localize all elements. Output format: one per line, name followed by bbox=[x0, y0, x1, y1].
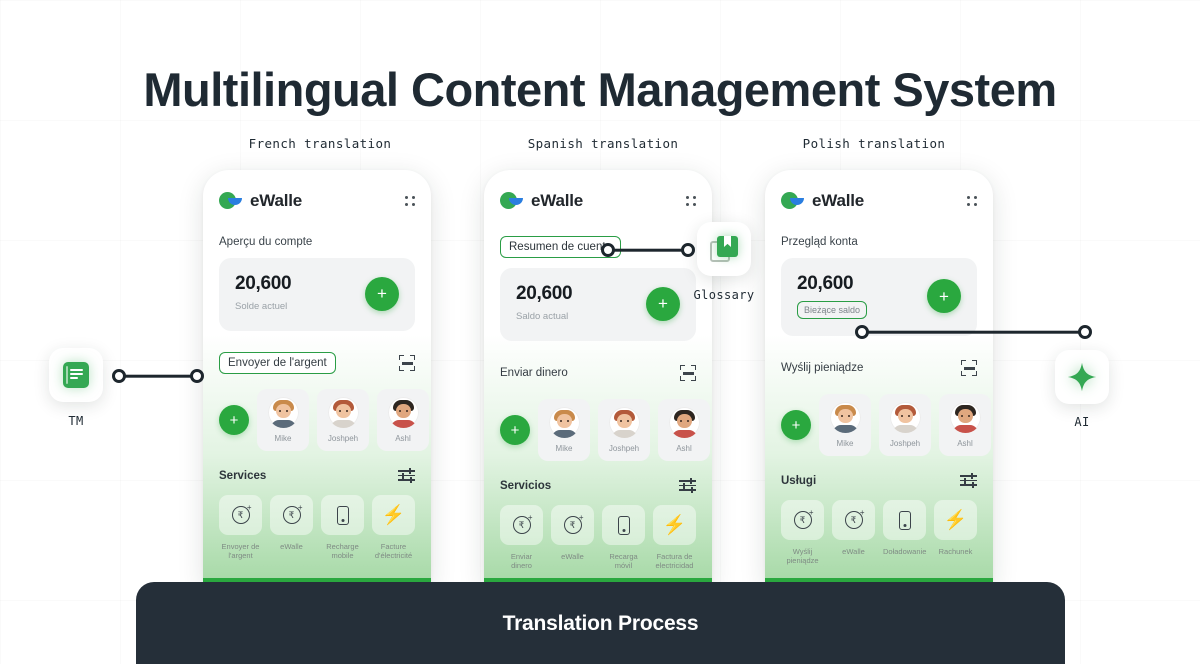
connector-tm-to-french bbox=[112, 368, 204, 384]
connector-spanish-to-glossary bbox=[601, 242, 695, 258]
filter-sliders-icon[interactable] bbox=[398, 469, 415, 482]
avatar bbox=[950, 402, 981, 433]
contact-item[interactable]: Joshpeh bbox=[317, 389, 369, 451]
contact-name: Joshpeh bbox=[883, 439, 927, 448]
services-grid-polish: ₹ Wyślij pieniądze ₹ eWalle Doładowanie … bbox=[781, 500, 977, 566]
grid-menu-icon[interactable] bbox=[686, 196, 696, 206]
contact-name: Mike bbox=[542, 444, 586, 453]
coin-plus-icon: ₹ bbox=[781, 500, 824, 540]
avatar bbox=[388, 397, 419, 428]
ewalle-logo-icon bbox=[219, 192, 242, 211]
add-contact-button-french[interactable]: + bbox=[219, 405, 249, 435]
send-money-label-french: Envoyer de l'argent bbox=[219, 352, 336, 374]
service-label: Recarga móvil bbox=[602, 552, 645, 571]
connector-endpoint bbox=[601, 243, 615, 257]
contact-item[interactable]: Ashl bbox=[377, 389, 429, 451]
services-header-polish: Usługi bbox=[781, 474, 977, 487]
send-money-label-polish: Wyślij pieniądze bbox=[781, 362, 863, 374]
badge-glossary[interactable] bbox=[697, 222, 751, 276]
avatar bbox=[830, 402, 861, 433]
contacts-row-french: + Mike Joshpeh Ashl bbox=[219, 389, 415, 451]
contact-name: Mike bbox=[261, 434, 305, 443]
document-icon bbox=[63, 362, 89, 388]
contact-name: Ashl bbox=[381, 434, 425, 443]
phone-card-french: eWalle Aperçu du compte 20,600 Solde act… bbox=[203, 170, 431, 585]
account-overview-label-polish: Przegląd konta bbox=[781, 236, 858, 248]
balance-sublabel-spanish: Saldo actual bbox=[516, 311, 568, 322]
book-icon bbox=[710, 236, 738, 262]
avatar bbox=[549, 407, 580, 438]
service-item[interactable]: ₹ Wyślij pieniądze bbox=[781, 500, 824, 566]
service-item[interactable]: ₹ eWalle bbox=[551, 505, 594, 571]
balance-amount-spanish: 20,600 bbox=[516, 283, 572, 305]
service-item[interactable]: Recharge mobile bbox=[321, 495, 364, 561]
balance-sublabel-polish: Bieżące saldo bbox=[797, 301, 867, 319]
page-root: Multilingual Content Management System F… bbox=[0, 0, 1200, 664]
connector-endpoint bbox=[190, 369, 204, 383]
service-label: Factura de electricidad bbox=[653, 552, 696, 571]
contact-item[interactable]: Mike bbox=[257, 389, 309, 451]
service-label: Wyślij pieniądze bbox=[781, 547, 824, 566]
services-title-spanish: Servicios bbox=[500, 480, 551, 492]
bottom-banner: Translation Process bbox=[136, 582, 1065, 664]
coin-plus-icon: ₹ bbox=[500, 505, 543, 545]
mobile-icon bbox=[321, 495, 364, 535]
service-item[interactable]: ₹ Envoyer de l'argent bbox=[219, 495, 262, 561]
contacts-row-spanish: + Mike Joshpeh Ashl bbox=[500, 399, 696, 461]
service-item[interactable]: Recarga móvil bbox=[602, 505, 645, 571]
badge-label-glossary: Glossary bbox=[664, 288, 784, 302]
service-item[interactable]: ₹ eWalle bbox=[832, 500, 875, 566]
grid-menu-icon[interactable] bbox=[967, 196, 977, 206]
connector-endpoint bbox=[855, 325, 869, 339]
app-name-french: eWalle bbox=[250, 191, 302, 211]
badge-ai[interactable] bbox=[1055, 350, 1109, 404]
column-caption-polish: Polish translation bbox=[744, 136, 1004, 151]
contact-name: Joshpeh bbox=[602, 444, 646, 453]
service-label: Envoyer de l'argent bbox=[219, 542, 262, 561]
send-money-row-polish: Wyślij pieniądze bbox=[781, 356, 977, 380]
coin-plus-icon: ₹ bbox=[832, 500, 875, 540]
filter-sliders-icon[interactable] bbox=[960, 474, 977, 487]
contact-item[interactable]: Joshpeh bbox=[598, 399, 650, 461]
app-name-polish: eWalle bbox=[812, 191, 864, 211]
service-label: Recharge mobile bbox=[321, 542, 364, 561]
service-label: Doładowanie bbox=[883, 547, 926, 556]
app-header-polish: eWalle bbox=[781, 170, 977, 232]
banner-title: Translation Process bbox=[136, 612, 1065, 636]
page-title: Multilingual Content Management System bbox=[0, 62, 1200, 117]
contact-item[interactable]: Mike bbox=[819, 394, 871, 456]
services-title-french: Services bbox=[219, 470, 266, 482]
app-name-spanish: eWalle bbox=[531, 191, 583, 211]
avatar bbox=[328, 397, 359, 428]
scan-qr-icon[interactable] bbox=[399, 355, 415, 371]
send-money-row-spanish: Enviar dinero bbox=[500, 361, 696, 385]
column-caption-french: French translation bbox=[190, 136, 450, 151]
service-item[interactable]: Doładowanie bbox=[883, 500, 926, 566]
sparkle-star-icon bbox=[1067, 362, 1097, 392]
grid-menu-icon[interactable] bbox=[405, 196, 415, 206]
connector-endpoint bbox=[1078, 325, 1092, 339]
services-header-spanish: Servicios bbox=[500, 479, 696, 492]
avatar bbox=[669, 407, 700, 438]
services-grid-french: ₹ Envoyer de l'argent ₹ eWalle Recharge … bbox=[219, 495, 415, 561]
services-title-polish: Usługi bbox=[781, 475, 816, 487]
add-funds-button-french[interactable]: + bbox=[365, 277, 399, 311]
service-item[interactable]: ⚡ Factura de electricidad bbox=[653, 505, 696, 571]
service-item[interactable]: ⚡ Facture d'électricité bbox=[372, 495, 415, 561]
app-header-french: eWalle bbox=[219, 170, 415, 232]
bolt-icon: ⚡ bbox=[934, 500, 977, 540]
avatar bbox=[890, 402, 921, 433]
phone-card-spanish: eWalle Resumen de cuenta 20,600 Saldo ac… bbox=[484, 170, 712, 585]
app-header-spanish: eWalle bbox=[500, 170, 696, 232]
connector-polish-to-ai bbox=[855, 324, 1092, 340]
coin-plus-icon: ₹ bbox=[270, 495, 313, 535]
badge-label-ai: AI bbox=[1022, 415, 1142, 429]
phone-card-polish: eWalle Przegląd konta 20,600 Bieżące sal… bbox=[765, 170, 993, 585]
bolt-icon: ⚡ bbox=[372, 495, 415, 535]
contact-name: Joshpeh bbox=[321, 434, 365, 443]
balance-card-french: 20,600 Solde actuel + bbox=[219, 258, 415, 331]
send-money-label-spanish: Enviar dinero bbox=[500, 367, 568, 379]
balance-sublabel-french: Solde actuel bbox=[235, 301, 287, 312]
account-overview-label-french: Aperçu du compte bbox=[219, 236, 312, 248]
mobile-icon bbox=[883, 500, 926, 540]
mobile-icon bbox=[602, 505, 645, 545]
service-item[interactable]: ⚡ Rachunek bbox=[934, 500, 977, 566]
balance-card-spanish: 20,600 Saldo actual + bbox=[500, 268, 696, 341]
services-grid-spanish: ₹ Enviar dinero ₹ eWalle Recarga móvil ⚡… bbox=[500, 505, 696, 571]
services-header-french: Services bbox=[219, 469, 415, 482]
scan-qr-icon[interactable] bbox=[680, 365, 696, 381]
balance-amount-polish: 20,600 bbox=[797, 273, 867, 295]
service-label: Rachunek bbox=[934, 547, 977, 556]
avatar bbox=[268, 397, 299, 428]
add-funds-button-polish[interactable]: + bbox=[927, 279, 961, 313]
contact-name: Ashl bbox=[943, 439, 987, 448]
scan-qr-icon[interactable] bbox=[961, 360, 977, 376]
connector-endpoint bbox=[112, 369, 126, 383]
service-label: eWalle bbox=[832, 547, 875, 556]
service-label: eWalle bbox=[270, 542, 313, 551]
send-money-row-french: Envoyer de l'argent bbox=[219, 351, 415, 375]
coin-plus-icon: ₹ bbox=[551, 505, 594, 545]
service-item[interactable]: ₹ eWalle bbox=[270, 495, 313, 561]
filter-sliders-icon[interactable] bbox=[679, 479, 696, 492]
contact-name: Ashl bbox=[662, 444, 706, 453]
avatar bbox=[609, 407, 640, 438]
connector-endpoint bbox=[681, 243, 695, 257]
column-caption-spanish: Spanish translation bbox=[473, 136, 733, 151]
bolt-icon: ⚡ bbox=[653, 505, 696, 545]
add-contact-button-polish[interactable]: + bbox=[781, 410, 811, 440]
service-label: Facture d'électricité bbox=[372, 542, 415, 561]
badge-label-tm: TM bbox=[16, 414, 136, 428]
contact-item[interactable]: Ashl bbox=[939, 394, 991, 456]
contact-name: Mike bbox=[823, 439, 867, 448]
ewalle-logo-icon bbox=[781, 192, 804, 211]
service-label: Enviar dinero bbox=[500, 552, 543, 571]
balance-amount-french: 20,600 bbox=[235, 273, 291, 295]
add-contact-button-spanish[interactable]: + bbox=[500, 415, 530, 445]
service-item[interactable]: ₹ Enviar dinero bbox=[500, 505, 543, 571]
ewalle-logo-icon bbox=[500, 192, 523, 211]
service-label: eWalle bbox=[551, 552, 594, 561]
contact-item[interactable]: Mike bbox=[538, 399, 590, 461]
contacts-row-polish: + Mike Joshpeh Ashl bbox=[781, 394, 977, 456]
coin-plus-icon: ₹ bbox=[219, 495, 262, 535]
badge-tm[interactable] bbox=[49, 348, 103, 402]
contact-item[interactable]: Ashl bbox=[658, 399, 710, 461]
contact-item[interactable]: Joshpeh bbox=[879, 394, 931, 456]
